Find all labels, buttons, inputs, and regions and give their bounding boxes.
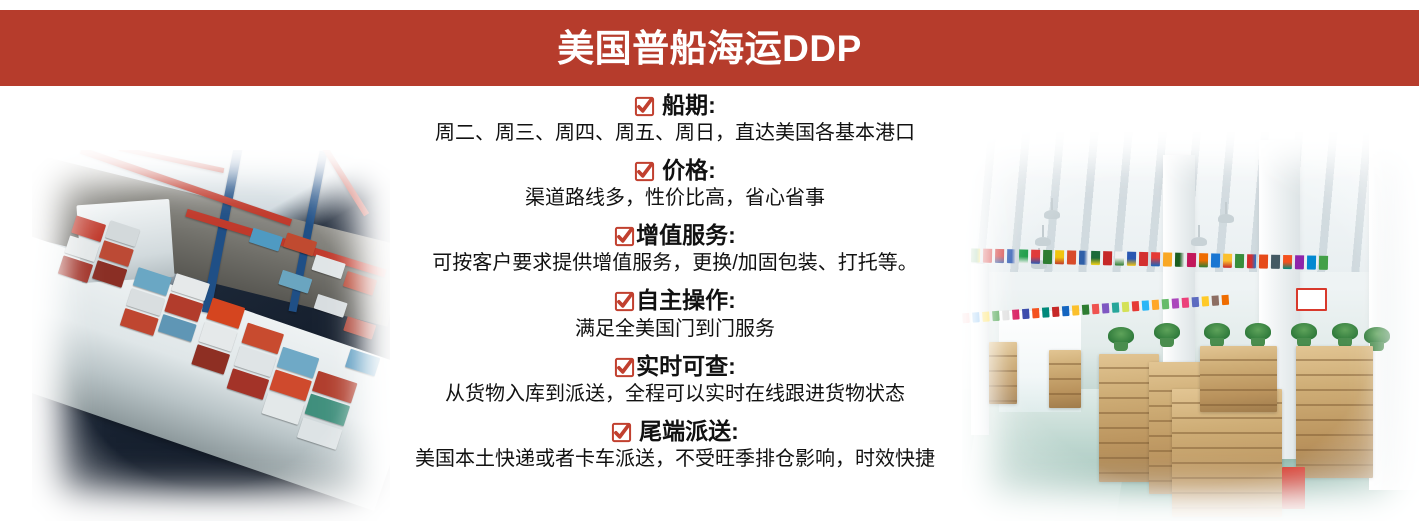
- feature-description: 从货物入库到派送，全程可以实时在线跟进货物状态: [390, 381, 960, 407]
- feature-description: 渠道路线多，性价比高，省心省事: [390, 185, 960, 211]
- checkbox-checked-icon: [614, 226, 635, 247]
- ship-photo-art: [32, 150, 390, 521]
- feature-title: 增值服务:: [636, 222, 736, 249]
- container-ship-at-port-photo: [32, 150, 390, 521]
- feature-title: 自主操作:: [636, 287, 736, 314]
- feature-title: 价格:: [662, 157, 716, 184]
- feature-item-price: 价格: 渠道路线多，性价比高，省心省事: [390, 157, 960, 211]
- potted-plant: [1108, 327, 1134, 344]
- potted-plant: [1364, 327, 1390, 344]
- feature-item-independent-operation: 自主操作: 满足全美国门到门服务: [390, 287, 960, 341]
- red-fire-cabinet: [1282, 467, 1305, 510]
- ceiling-lamp: [1044, 210, 1060, 219]
- checkbox-checked-icon: [614, 357, 635, 378]
- warehouse-pillar: [1369, 132, 1419, 490]
- red-wall-sign: [1296, 288, 1327, 311]
- potted-plant: [1332, 323, 1358, 340]
- feature-description: 满足全美国门到门服务: [390, 316, 960, 342]
- feature-description: 美国本土快递或者卡车派送，不受旺季排仓影响，时效快捷: [390, 446, 960, 472]
- warehouse-worker: [1072, 358, 1084, 384]
- crane-boom: [296, 150, 369, 217]
- warehouse-pillar: [971, 264, 989, 435]
- potted-plant: [1154, 323, 1180, 340]
- page-title: 美国普船海运DDP: [557, 30, 862, 67]
- carton-pallet-stack: [989, 342, 1016, 404]
- feature-title: 尾端派送:: [639, 418, 739, 445]
- checkbox-checked-icon: [614, 291, 635, 312]
- carton-pallet-stack: [1296, 346, 1374, 478]
- ceiling-lamp: [1218, 214, 1234, 223]
- potted-plant: [1204, 323, 1230, 340]
- potted-plant: [1291, 323, 1317, 340]
- container-stacks: [32, 155, 390, 521]
- carton-pallet-stack: [1200, 346, 1278, 412]
- feature-list: 船期: 周二、周三、周四、周五、周日，直达美国各基本港口 价格: 渠道路线多，性…: [390, 92, 960, 472]
- feature-item-real-time-tracking: 实时可查: 从货物入库到派送，全程可以实时在线跟进货物状态: [390, 353, 960, 407]
- feature-item-last-mile-delivery: 尾端派送: 美国本土快递或者卡车派送，不受旺季排仓影响，时效快捷: [390, 418, 960, 472]
- feature-item-value-added-service: 增值服务: 可按客户要求提供增值服务，更换/加固包装、打托等。: [390, 222, 960, 276]
- potted-plant: [1245, 323, 1271, 340]
- checkbox-checked-icon: [634, 96, 655, 117]
- feature-description: 可按客户要求提供增值服务，更换/加固包装、打托等。: [390, 250, 960, 276]
- warehouse-photo-art: [962, 132, 1419, 521]
- feature-description: 周二、周三、周四、周五、周日，直达美国各基本港口: [390, 120, 960, 146]
- warehouse-interior-photo: [962, 132, 1419, 521]
- feature-item-shipping-schedule: 船期: 周二、周三、周四、周五、周日，直达美国各基本港口: [390, 92, 960, 146]
- checkbox-checked-icon: [611, 422, 632, 443]
- page-header-banner: 美国普船海运DDP: [0, 10, 1419, 86]
- feature-title: 实时可查:: [636, 353, 736, 380]
- ceiling-lamp: [1191, 237, 1207, 246]
- warehouse-worker: [1145, 428, 1165, 472]
- ceiling-lamp: [1035, 237, 1051, 246]
- feature-title: 船期:: [662, 92, 716, 119]
- checkbox-checked-icon: [634, 161, 655, 182]
